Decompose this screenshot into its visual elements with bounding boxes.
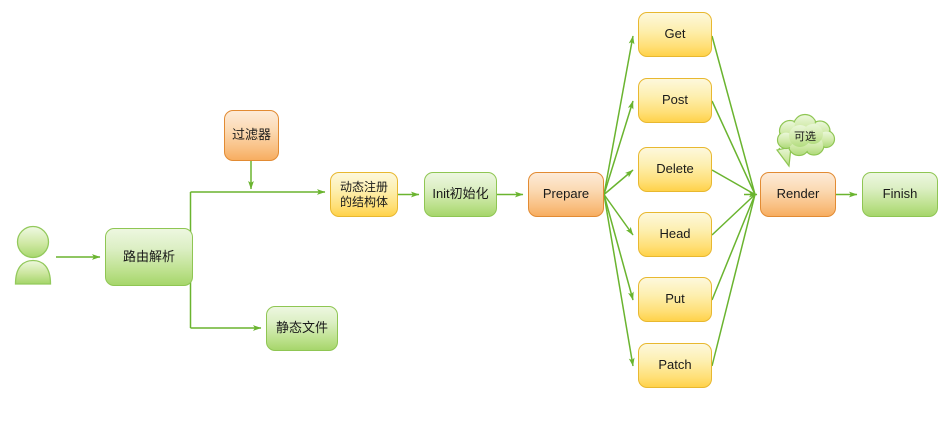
- node-static-file-label: 静态文件: [276, 320, 328, 336]
- edge-layer: [0, 0, 951, 448]
- node-render[interactable]: Render: [760, 172, 836, 217]
- node-filter[interactable]: 过滤器: [224, 110, 279, 161]
- node-prepare-label: Prepare: [543, 186, 589, 202]
- node-prepare[interactable]: Prepare: [528, 172, 604, 217]
- edge-patch-to-render: [712, 195, 755, 367]
- node-delete-label: Delete: [656, 161, 694, 177]
- node-init[interactable]: Init初始化: [424, 172, 497, 217]
- edge-head-to-render: [712, 195, 755, 236]
- node-delete[interactable]: Delete: [638, 147, 712, 192]
- node-dynamic-register-label-line2: 的结构体: [340, 195, 388, 210]
- node-get-label: Get: [665, 26, 686, 42]
- node-init-label: Init初始化: [432, 186, 488, 202]
- node-filter-label: 过滤器: [232, 127, 271, 143]
- node-post[interactable]: Post: [638, 78, 712, 123]
- node-head-label: Head: [659, 226, 690, 242]
- node-dynamic-register-text: 动态注册 的结构体: [340, 180, 388, 210]
- optional-callout-label: 可选: [790, 128, 820, 144]
- edge-prepare-to-patch: [604, 195, 633, 367]
- node-patch-label: Patch: [658, 357, 691, 373]
- node-route-label: 路由解析: [123, 249, 175, 265]
- edge-prepare-to-head: [604, 195, 633, 236]
- edge-put-to-render: [712, 195, 755, 301]
- node-render-label: Render: [777, 186, 820, 202]
- node-head[interactable]: Head: [638, 212, 712, 257]
- user-actor-icon: [16, 227, 51, 285]
- node-dynamic-register[interactable]: 动态注册 的结构体: [330, 172, 398, 217]
- node-static-file[interactable]: 静态文件: [266, 306, 338, 351]
- node-put[interactable]: Put: [638, 277, 712, 322]
- node-post-label: Post: [662, 92, 688, 108]
- node-finish[interactable]: Finish: [862, 172, 938, 217]
- node-patch[interactable]: Patch: [638, 343, 712, 388]
- node-get[interactable]: Get: [638, 12, 712, 57]
- node-route[interactable]: 路由解析: [105, 228, 193, 286]
- node-dynamic-register-label-line1: 动态注册: [340, 180, 388, 195]
- node-put-label: Put: [665, 291, 685, 307]
- node-finish-label: Finish: [883, 186, 918, 202]
- flowchart-canvas: 路由解析 过滤器 静态文件 动态注册 的结构体 Init初始化 Prepare …: [0, 0, 951, 448]
